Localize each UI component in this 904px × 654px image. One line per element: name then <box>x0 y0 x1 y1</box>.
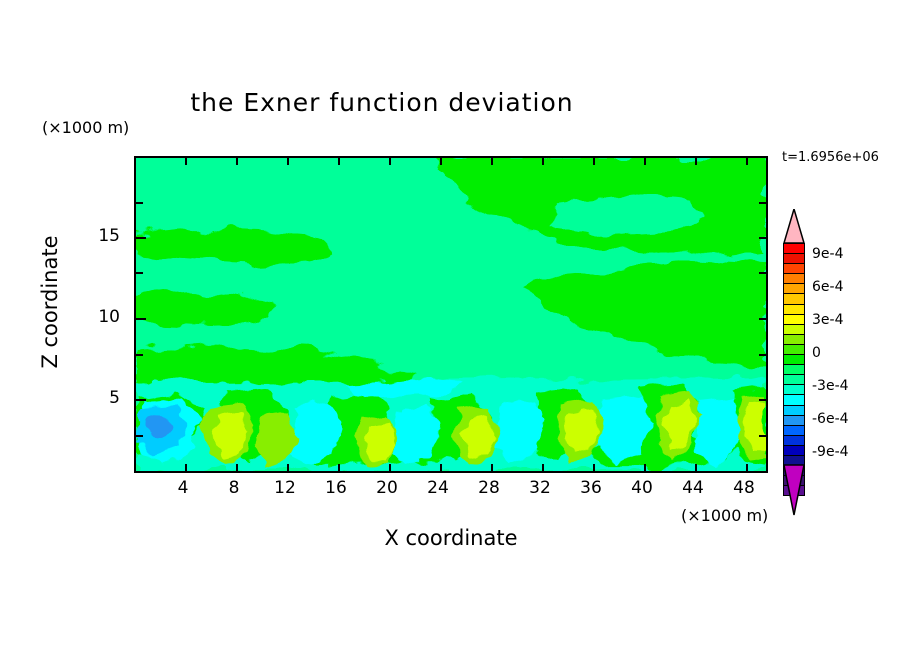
y-tick-right <box>759 354 766 356</box>
contour-plot-area <box>134 156 768 473</box>
colorbar-under-arrow <box>783 464 805 516</box>
y-tick-label: 10 <box>88 307 120 327</box>
x-tick-label: 40 <box>622 478 662 498</box>
y-tick <box>136 272 143 274</box>
x-tick-top <box>185 158 187 165</box>
colorbar[interactable] <box>783 243 805 465</box>
y-tick-right <box>759 399 766 401</box>
x-tick-label: 4 <box>163 478 203 498</box>
contour-field <box>136 158 766 471</box>
x-tick <box>338 464 340 471</box>
x-tick-top <box>491 158 493 165</box>
x-tick-label: 20 <box>367 478 407 498</box>
y-tick-right <box>759 435 766 437</box>
x-tick-label: 48 <box>724 478 764 498</box>
x-tick <box>542 464 544 471</box>
x-tick-top <box>593 158 595 165</box>
y-tick-label: 15 <box>88 226 120 246</box>
y-tick-label: 5 <box>88 388 120 408</box>
x-tick <box>287 464 289 471</box>
x-tick-label: 36 <box>571 478 611 498</box>
y-tick-major <box>136 399 146 401</box>
page-title: the Exner function deviation <box>0 88 904 117</box>
y-tick-right <box>759 202 766 204</box>
x-tick-label: 8 <box>214 478 254 498</box>
x-tick-top <box>236 158 238 165</box>
x-tick-top <box>695 158 697 165</box>
colorbar-label: 0 <box>812 345 821 361</box>
x-tick-top <box>542 158 544 165</box>
colorbar-label: -9e-4 <box>812 444 849 460</box>
colorbar-over-arrow <box>783 209 805 244</box>
x-axis-unit-label: (×1000 m) <box>681 506 768 525</box>
colorbar-label: -3e-4 <box>812 378 849 394</box>
y-tick <box>136 435 143 437</box>
x-tick <box>236 464 238 471</box>
x-tick-top <box>287 158 289 165</box>
x-tick-top <box>440 158 442 165</box>
x-tick-label: 28 <box>469 478 509 498</box>
x-tick <box>695 464 697 471</box>
x-axis-label: X coordinate <box>251 526 651 550</box>
x-tick <box>593 464 595 471</box>
x-tick <box>389 464 391 471</box>
y-axis-unit-label: (×1000 m) <box>42 118 129 137</box>
timestamp-annotation: t=1.6956e+06 <box>782 150 879 165</box>
x-tick-top <box>644 158 646 165</box>
colorbar-label: -6e-4 <box>812 411 849 427</box>
x-tick-label: 16 <box>316 478 356 498</box>
x-tick-label: 24 <box>418 478 458 498</box>
x-tick-top <box>338 158 340 165</box>
colorbar-label: 6e-4 <box>812 279 843 295</box>
y-tick-major <box>136 237 146 239</box>
colorbar-label: 3e-4 <box>812 312 843 328</box>
x-tick <box>440 464 442 471</box>
y-tick <box>136 202 143 204</box>
x-tick <box>491 464 493 471</box>
y-tick <box>136 354 143 356</box>
x-tick-top <box>389 158 391 165</box>
x-tick <box>644 464 646 471</box>
y-tick-right <box>759 237 766 239</box>
x-tick <box>185 464 187 471</box>
x-tick-label: 44 <box>673 478 713 498</box>
x-tick <box>746 464 748 471</box>
y-tick-right <box>759 318 766 320</box>
y-axis-label: Z coordinate <box>38 192 62 412</box>
plot-title-text: the Exner function deviation <box>190 88 573 117</box>
y-tick-major <box>136 318 146 320</box>
x-tick-label: 12 <box>265 478 305 498</box>
y-tick-right <box>759 272 766 274</box>
x-tick-label: 32 <box>520 478 560 498</box>
colorbar-label: 9e-4 <box>812 246 843 262</box>
x-tick-top <box>746 158 748 165</box>
figure: the Exner function deviation (×1000 m) Z… <box>0 0 904 654</box>
